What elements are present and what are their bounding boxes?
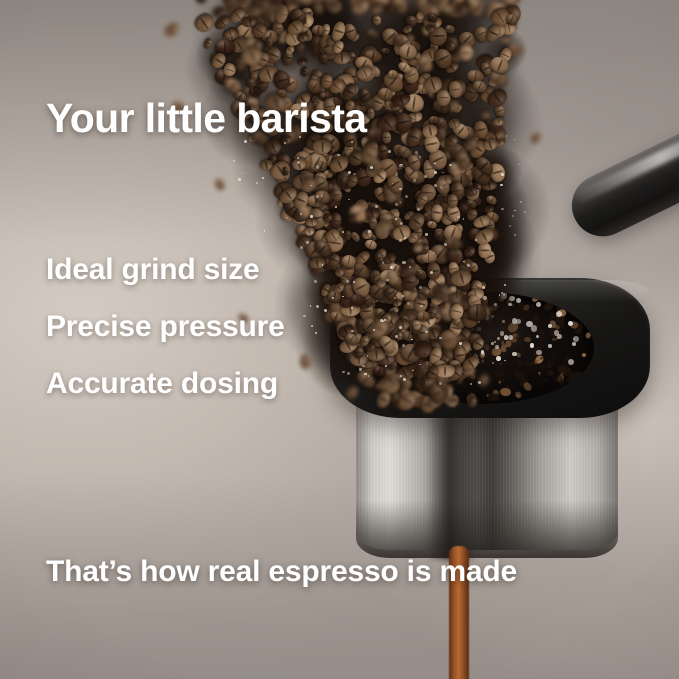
feature-item-2: Precise pressure bbox=[46, 310, 285, 344]
product-banner: Your little barista Ideal grind size Pre… bbox=[0, 0, 679, 679]
page-title: Your little barista bbox=[46, 95, 366, 142]
tagline: That’s how real espresso is made bbox=[46, 555, 517, 589]
feature-item-3: Accurate dosing bbox=[46, 367, 278, 401]
feature-item-1: Ideal grind size bbox=[46, 253, 260, 287]
